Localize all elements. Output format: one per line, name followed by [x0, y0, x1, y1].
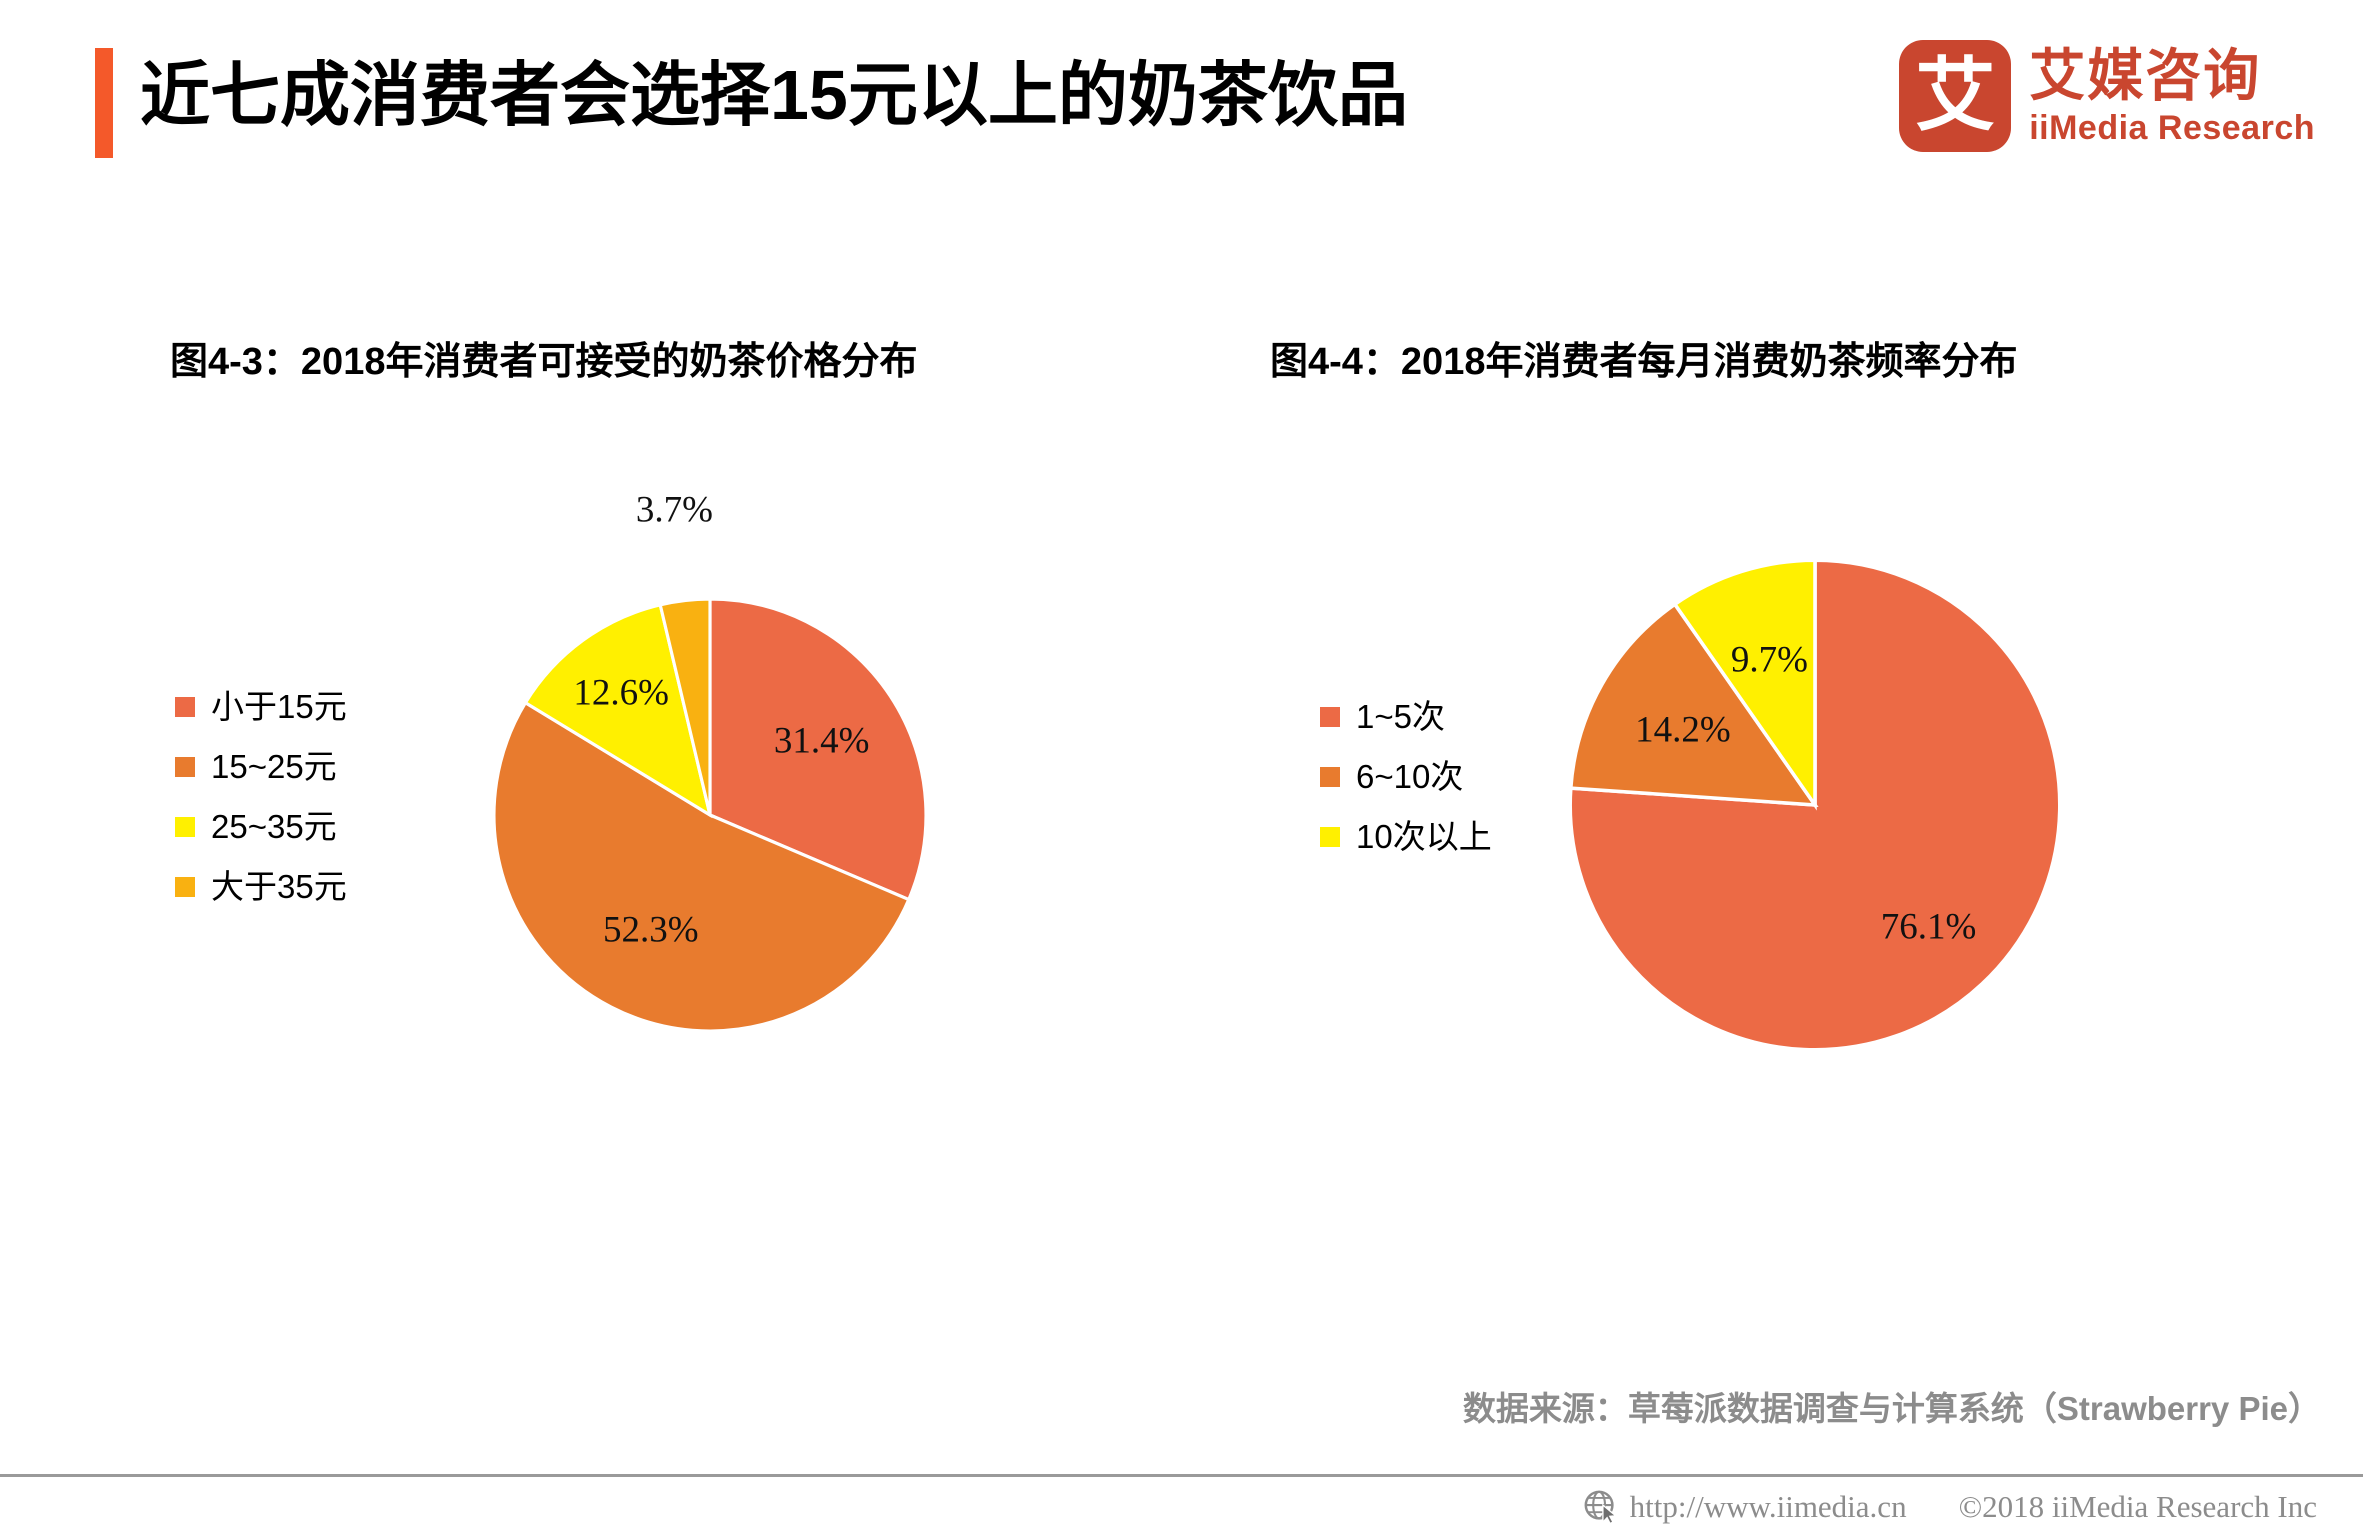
legend-item-price-15-25[interactable]: 15~25元 [175, 750, 347, 783]
legend-label: 25~35元 [211, 810, 337, 843]
logo-english-name: iiMedia Research [2029, 110, 2315, 147]
legend-label: 10次以上 [1356, 820, 1492, 853]
chart-body-4-4: 1~5次 6~10次 10次以上 76.1%14.2%9.7% [1230, 445, 2320, 1205]
legend-swatch-icon [1320, 707, 1340, 727]
legend-item-price-25-35[interactable]: 25~35元 [175, 810, 347, 843]
page-header: 近七成消费者会选择15元以上的奶茶饮品 艾 艾媒咨询 iiMedia Resea… [0, 0, 2363, 200]
legend-swatch-icon [175, 757, 195, 777]
globe-cursor-icon [1582, 1488, 1620, 1526]
legend-item-freq-1-5[interactable]: 1~5次 [1320, 700, 1492, 733]
pie-chart-4-4: 76.1%14.2%9.7% [1560, 550, 2070, 1060]
legend-swatch-icon [175, 817, 195, 837]
logo-chinese-name: 艾媒咨询 [2029, 45, 2315, 108]
legend-item-freq-gt10[interactable]: 10次以上 [1320, 820, 1492, 853]
legend-label: 15~25元 [211, 750, 337, 783]
chart-panel-frequency-distribution: 图4-4：2018年消费者每月消费奶茶频率分布 1~5次 6~10次 10次以上… [1230, 330, 2320, 1205]
pie-svg-4-3 [485, 590, 935, 1040]
page-footer: http://www.iimedia.cn ©2018 iiMedia Rese… [0, 1477, 2363, 1536]
legend-item-freq-6-10[interactable]: 6~10次 [1320, 760, 1492, 793]
legend-swatch-icon [175, 877, 195, 897]
legend-label: 1~5次 [1356, 700, 1445, 733]
footer-url: http://www.iimedia.cn [1630, 1489, 1907, 1525]
logo-text: 艾媒咨询 iiMedia Research [2029, 45, 2315, 147]
footer-copyright: ©2018 iiMedia Research Inc [1959, 1489, 2317, 1525]
legend-swatch-icon [175, 697, 195, 717]
chart-body-4-3: 小于15元 15~25元 25~35元 大于35元 31.4%52.3%12.6… [120, 445, 1200, 1205]
pie-svg-4-4 [1560, 550, 2070, 1060]
logo-mark-icon: 艾 [1899, 40, 2011, 152]
footer-url-group[interactable]: http://www.iimedia.cn [1582, 1488, 1907, 1526]
brand-logo: 艾 艾媒咨询 iiMedia Research [1899, 40, 2315, 152]
legend-label: 小于15元 [211, 690, 347, 723]
legend-swatch-icon [1320, 827, 1340, 847]
chart-panel-price-distribution: 图4-3：2018年消费者可接受的奶茶价格分布 小于15元 15~25元 25~… [120, 330, 1200, 1205]
pie-slice-label: 14.2% [1635, 709, 1731, 752]
legend-item-price-gt35[interactable]: 大于35元 [175, 870, 347, 903]
data-source-note: 数据来源：草莓派数据调查与计算系统（Strawberry Pie） [1463, 1382, 2321, 1430]
page-title: 近七成消费者会选择15元以上的奶茶饮品 [140, 40, 1408, 150]
legend-4-3: 小于15元 15~25元 25~35元 大于35元 [175, 690, 347, 930]
pie-slice-label: 12.6% [573, 671, 669, 714]
legend-item-price-lt15[interactable]: 小于15元 [175, 690, 347, 723]
pie-slice-label: 52.3% [603, 909, 699, 952]
legend-swatch-icon [1320, 767, 1340, 787]
pie-slice-label: 31.4% [774, 720, 870, 763]
pie-slice-label: 9.7% [1731, 639, 1808, 682]
title-accent-bar [95, 48, 113, 158]
pie-chart-4-3: 31.4%52.3%12.6%3.7% [485, 590, 935, 1040]
pie-slice-label: 76.1% [1881, 905, 1977, 948]
legend-label: 6~10次 [1356, 760, 1463, 793]
pie-slice-label: 3.7% [636, 489, 713, 532]
chart-title-4-4: 图4-4：2018年消费者每月消费奶茶频率分布 [1230, 330, 2320, 385]
chart-title-4-3: 图4-3：2018年消费者可接受的奶茶价格分布 [120, 330, 1200, 385]
legend-4-4: 1~5次 6~10次 10次以上 [1320, 700, 1492, 880]
legend-label: 大于35元 [211, 870, 347, 903]
